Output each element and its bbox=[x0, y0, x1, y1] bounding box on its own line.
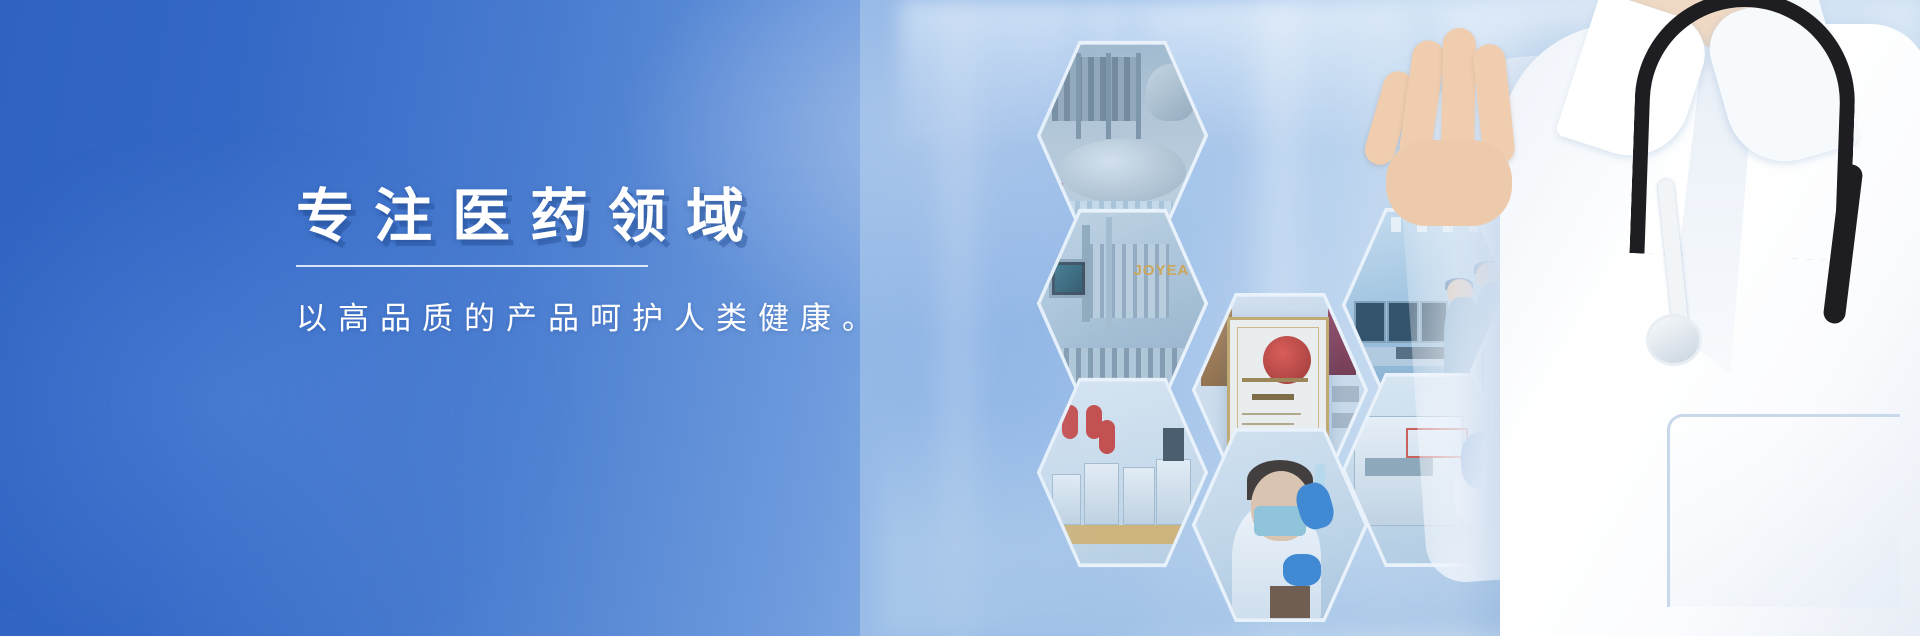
stethoscope-chestpiece bbox=[1646, 314, 1702, 366]
headline-divider bbox=[296, 265, 648, 267]
hero-text-block: 专注医药领域 以高品质的产品呵护人类健康。 bbox=[296, 186, 1056, 338]
hex-capsule-filling-machine bbox=[1035, 38, 1210, 233]
palm bbox=[1386, 140, 1512, 226]
page-title: 专注医药领域 bbox=[296, 186, 1056, 249]
hex-control-cabinet: JOYEA bbox=[1035, 206, 1210, 401]
open-hand bbox=[1370, 14, 1520, 204]
doctor-in-white-coat bbox=[1390, 0, 1920, 636]
hex-analytical-lab-bench bbox=[1035, 375, 1210, 570]
hero-banner: JOYEA bbox=[0, 0, 1920, 636]
page-subtitle: 以高品质的产品呵护人类健康。 bbox=[296, 293, 1056, 338]
hex-scientist-pipetting bbox=[1190, 425, 1370, 625]
coat-pocket bbox=[1667, 414, 1900, 607]
